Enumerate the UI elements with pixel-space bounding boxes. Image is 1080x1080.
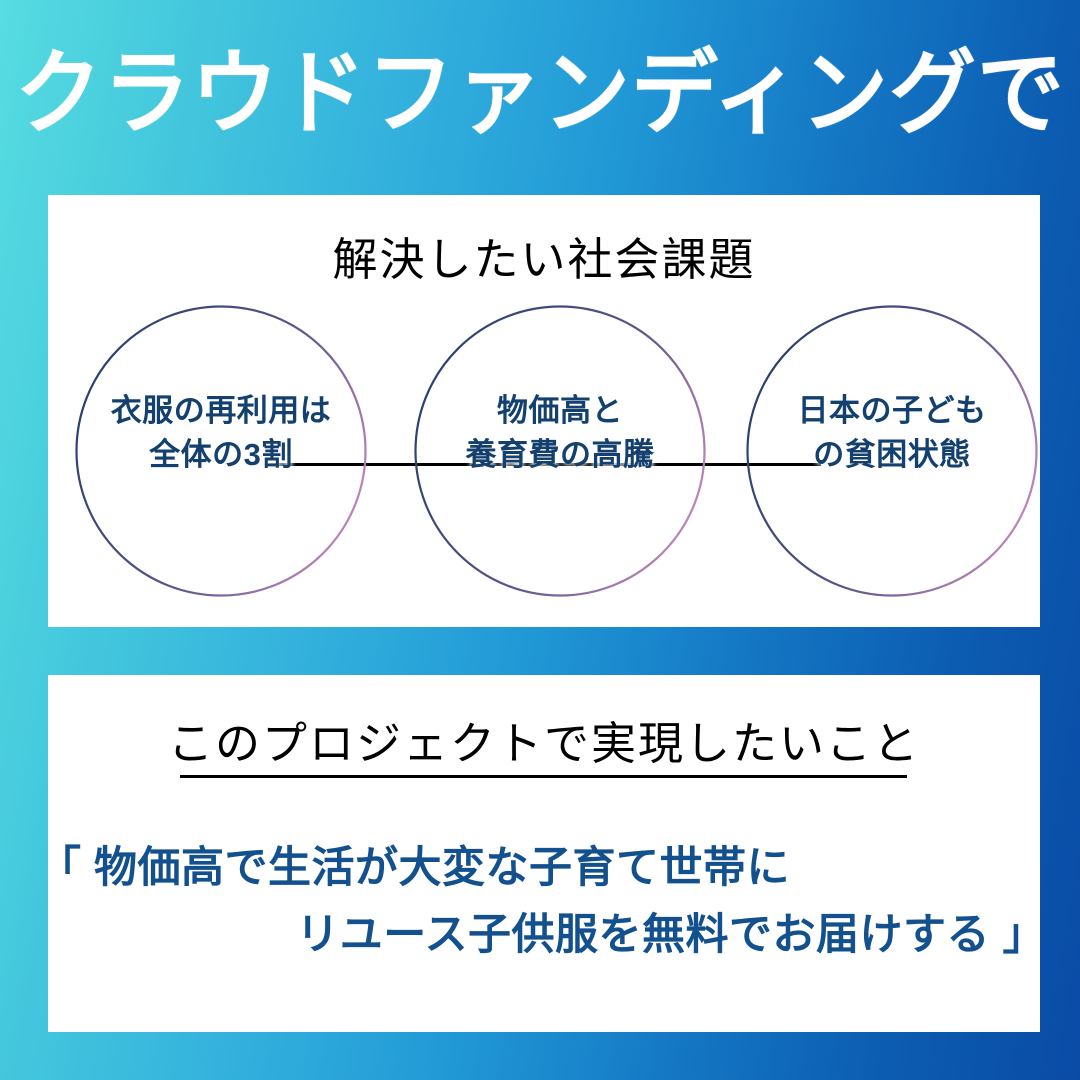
issue-circle-1-label: 衣服の再利用は 全体の3割 [67,389,375,477]
project-goal-quote-line2: リユース子供服を無料でお届けする 」 [32,902,1056,969]
project-goal-heading: このプロジェクトで実現したいこと [48,707,1040,772]
issue-circle-1-line2: 全体の3割 [67,433,375,477]
project-goal-heading-underline [180,775,907,778]
project-goal-card: このプロジェクトで実現したいこと 「 物価高で生活が大変な子育て世帯に リユース… [48,675,1040,1032]
issue-circle-2: 物価高と 養育費の高騰 [414,305,706,597]
social-issues-card: 解決したい社会課題 衣服の再利用は 全体の3割 [48,195,1040,627]
poster-title: クラウドファンディングで [0,24,1080,164]
issue-circle-2-line2: 養育費の高騰 [406,433,714,477]
poster-canvas: クラウドファンディングで 解決したい社会課題 衣服 [0,0,1080,1080]
project-goal-quote: 「 物価高で生活が大変な子育て世帯に リユース子供服を無料でお届けする 」 [32,835,1056,968]
issue-circle-1-line1: 衣服の再利用は [67,389,375,433]
issue-circle-1: 衣服の再利用は 全体の3割 [75,305,367,597]
project-goal-quote-line1: 「 物価高で生活が大変な子育て世帯に [32,835,1056,902]
social-issues-heading: 解決したい社会課題 [48,223,1040,288]
issue-circle-3: 日本の子ども の貧困状態 [746,305,1038,597]
poster-title-text: クラウドファンディングで [15,46,1065,143]
issue-circle-2-label: 物価高と 養育費の高騰 [406,389,714,477]
issue-circle-3-line1: 日本の子ども [738,389,1046,433]
issue-circles-row: 衣服の再利用は 全体の3割 物価高と [48,305,1040,605]
issue-circle-3-line2: の貧困状態 [738,433,1046,477]
issue-circle-3-label: 日本の子ども の貧困状態 [738,389,1046,477]
issue-circle-2-line1: 物価高と [406,389,714,433]
